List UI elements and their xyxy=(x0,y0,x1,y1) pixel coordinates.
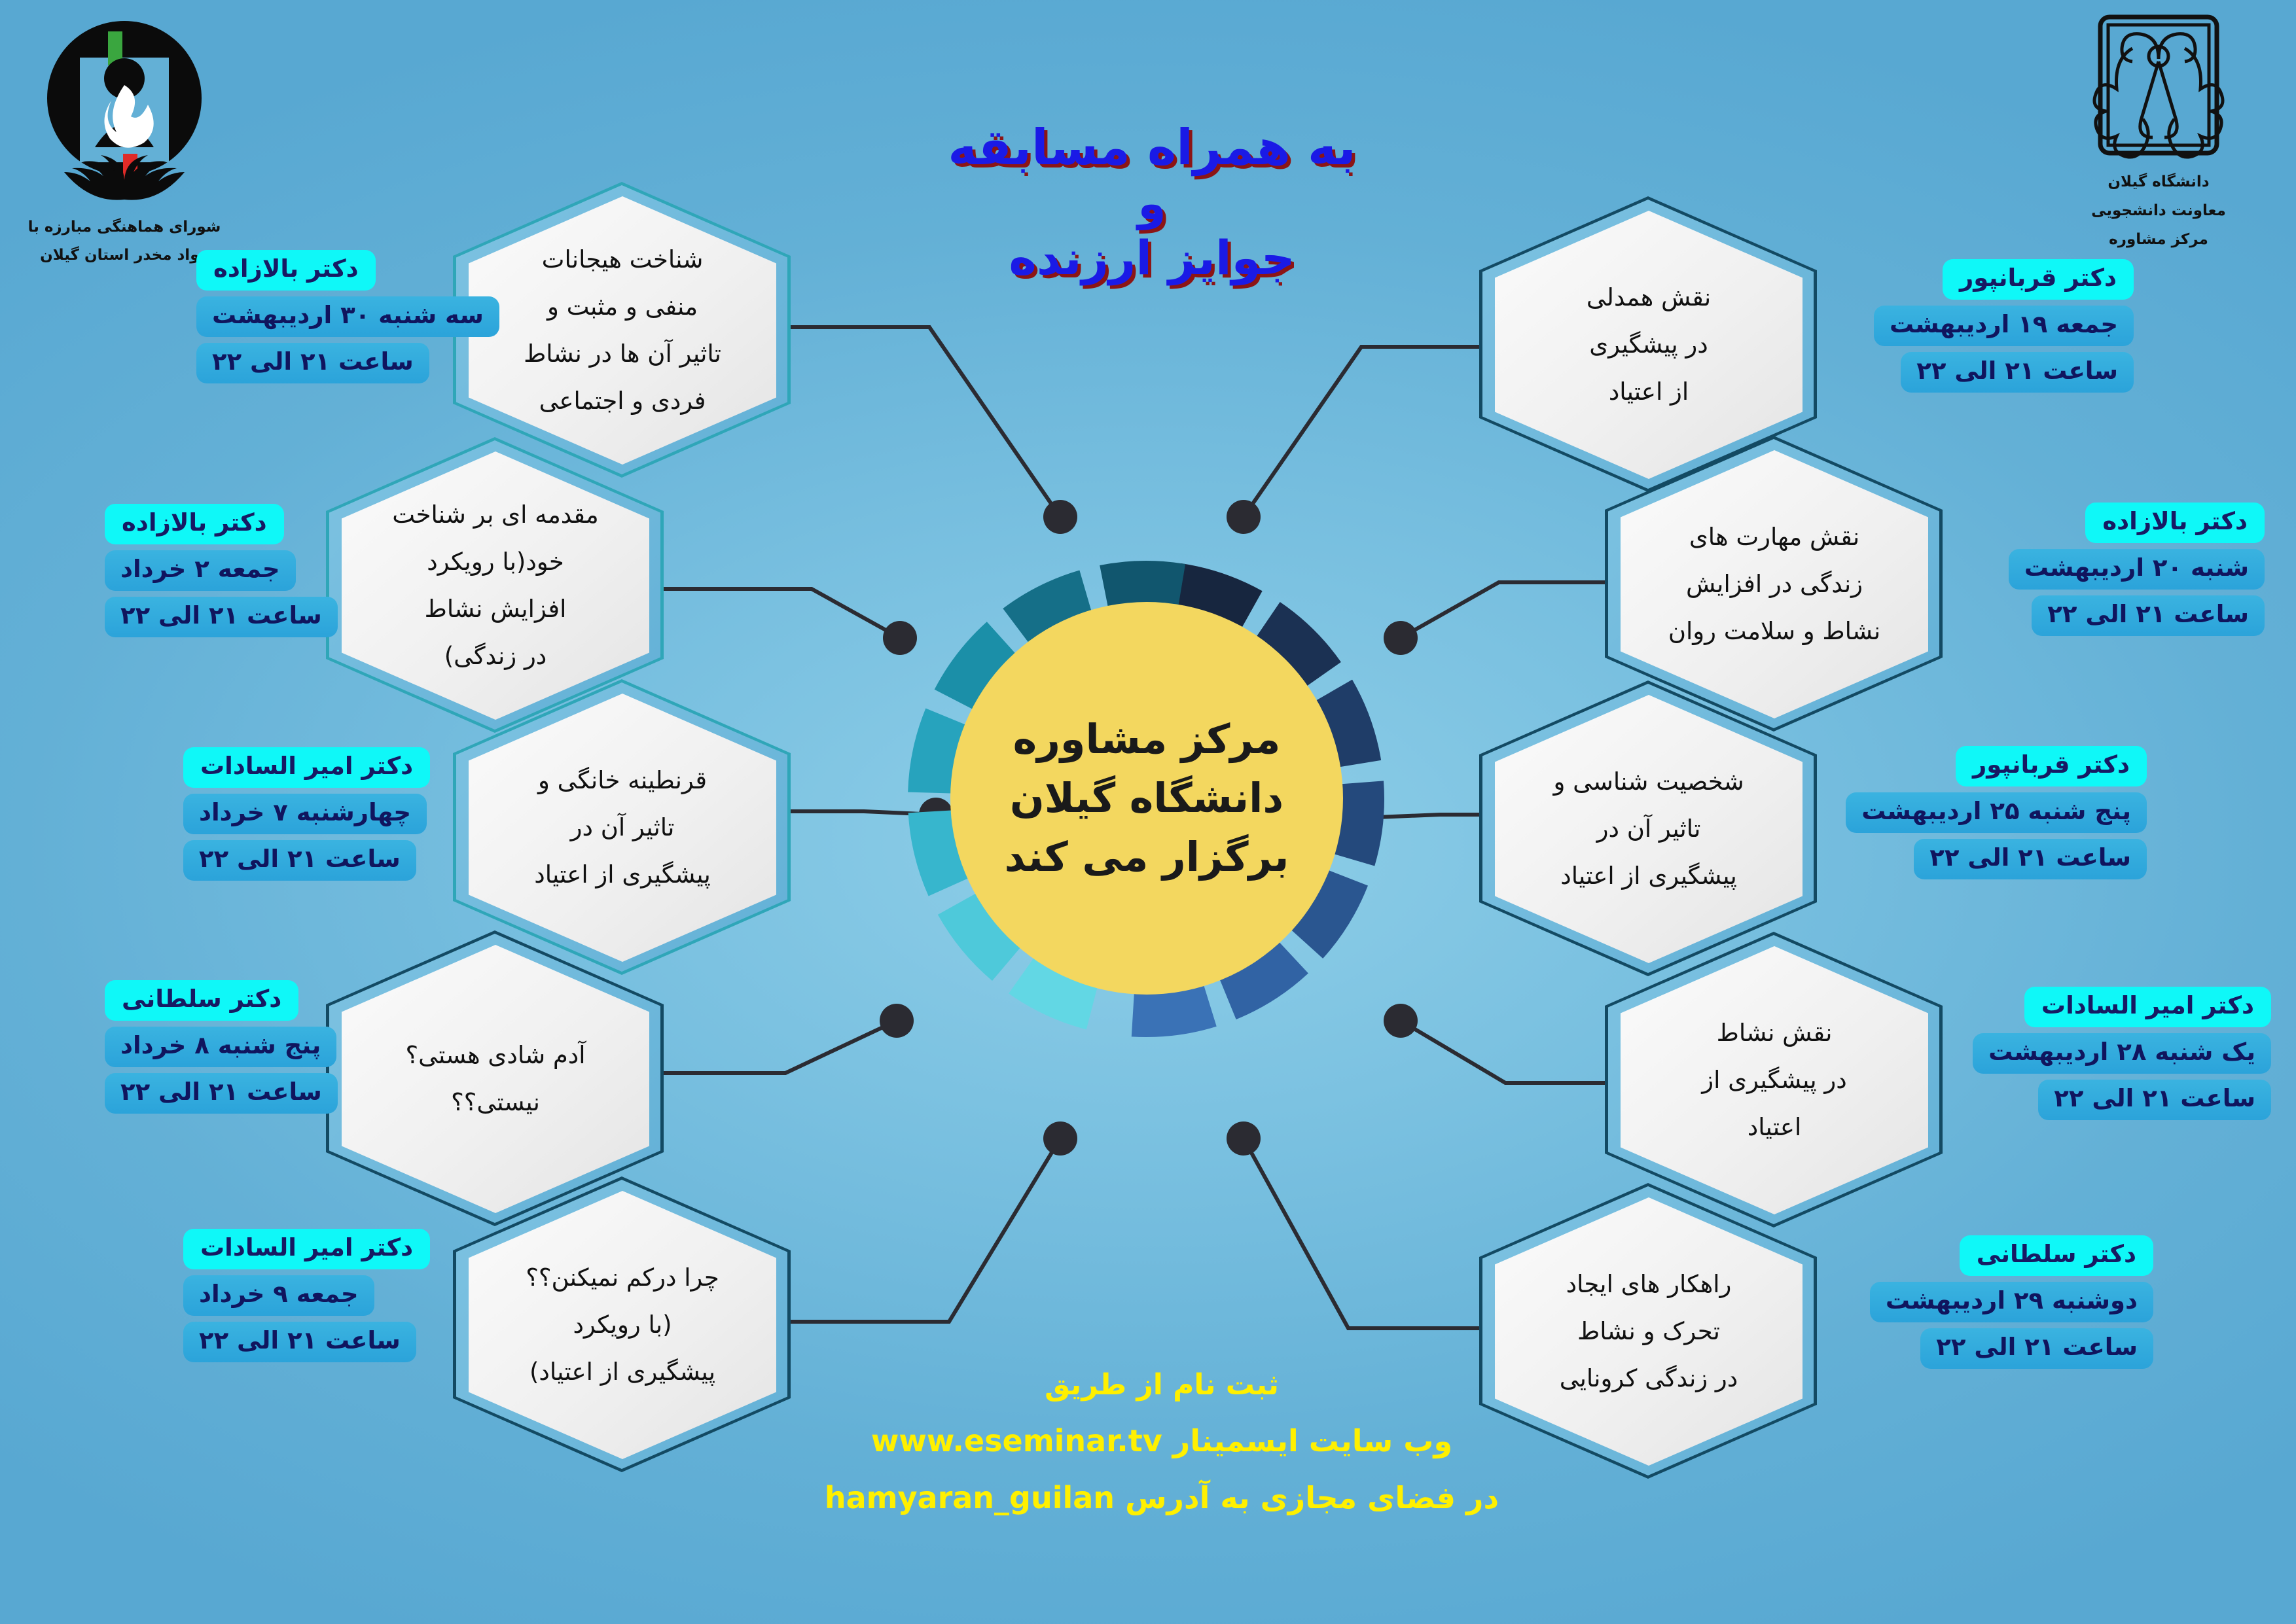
time-badge-left-3[interactable]: ساعت ۲۱ الی ۲۲ xyxy=(105,1073,338,1114)
presenter-badge-right-2[interactable]: دکتر قربانپور xyxy=(1956,746,2147,786)
right-logo-caption-line1: دانشگاه گیلان xyxy=(2060,170,2257,195)
hex-right-2-l0: شخصیت شناسی و xyxy=(1553,758,1744,805)
anti-narcotics-council-logo-icon xyxy=(26,7,223,209)
date-badge-left-4[interactable]: جمعه ۹ خرداد xyxy=(183,1275,374,1316)
headline: به همراه مسابقه و جوایز ارزنده xyxy=(936,121,1368,283)
badge-group-right-1: دکتر بالازاده شنبه ۲۰ اردیبهشت ساعت ۲۱ ا… xyxy=(1950,503,2265,636)
footer-line3[interactable]: در فضای مجازی به آدرس hamyaran_guilan xyxy=(740,1470,1584,1527)
right-logo-caption-line2: معاونت دانشجویی xyxy=(2060,199,2257,224)
hex-right-3-l2: اعتیاد xyxy=(1748,1104,1801,1151)
time-badge-left-0[interactable]: ساعت ۲۱ الی ۲۲ xyxy=(196,343,429,383)
badge-group-left-1: دکتر بالازاده جمعه ۲ خرداد ساعت ۲۱ الی ۲… xyxy=(105,504,380,637)
center-line1: مرکز مشاوره xyxy=(1013,710,1281,769)
date-badge-left-0[interactable]: سه شنبه ۳۰ اردیبهشت xyxy=(196,296,499,337)
time-badge-left-1[interactable]: ساعت ۲۱ الی ۲۲ xyxy=(105,597,338,637)
anti-narcotics-council-logo-block: شورای هماهنگی مبارزه با مواد مخدر استان … xyxy=(13,7,236,268)
date-badge-right-2[interactable]: پنج شنبه ۲۵ اردیبهشت xyxy=(1846,792,2147,833)
center-line3: برگزار می کند xyxy=(1005,828,1289,887)
hex-right-1-l2: نشاط و سلامت روان xyxy=(1668,608,1880,655)
hex-left-2-l1: تاثیر آن در xyxy=(571,804,675,851)
presenter-badge-right-0[interactable]: دکتر قربانپور xyxy=(1943,259,2134,300)
date-badge-left-2[interactable]: چهارشنبه ۷ خرداد xyxy=(183,794,427,834)
hex-right-0-l1: در پیشگیری xyxy=(1589,321,1708,368)
hex-left-2-l2: پیشگیری از اعتیاد xyxy=(534,851,711,898)
hex-right-4-l1: تحرک و نشاط xyxy=(1577,1308,1720,1355)
badge-group-left-3: دکتر سلطانی پنج شنبه ۸ خرداد ساعت ۲۱ الی… xyxy=(105,980,393,1114)
presenter-badge-right-3[interactable]: دکتر امیر السادات xyxy=(2024,987,2271,1027)
hex-left-1-l1: خود(با رویکرد xyxy=(427,538,564,586)
presenter-badge-left-0[interactable]: دکتر بالازاده xyxy=(196,250,376,291)
hex-left-0-l0: شناخت هیجانات xyxy=(542,236,704,283)
university-of-guilan-logo-block: دانشگاه گیلان معاونت دانشجویی مرکز مشاور… xyxy=(2060,12,2257,253)
time-badge-right-3[interactable]: ساعت ۲۱ الی ۲۲ xyxy=(2038,1080,2271,1120)
hex-right-0-l0: نقش همدلی xyxy=(1587,274,1711,321)
badge-group-right-2: دکتر قربانپور پنج شنبه ۲۵ اردیبهشت ساعت … xyxy=(1826,746,2147,879)
time-badge-left-4[interactable]: ساعت ۲۱ الی ۲۲ xyxy=(183,1322,416,1362)
hex-left-3-l0: آدم شادی هستی؟ xyxy=(405,1032,585,1079)
left-logo-caption-line1: شورای هماهنگی مبارزه با xyxy=(13,215,236,240)
hex-left-3-l1: نیستی؟؟ xyxy=(451,1079,540,1126)
footer-line2[interactable]: وب سایت ایسمینار www.eseminar.tv xyxy=(740,1413,1584,1470)
center-line2: دانشگاه گیلان xyxy=(1010,769,1283,828)
hex-left-0-l3: فردی و اجتماعی xyxy=(539,378,706,425)
hex-left-2-l0: قرنطینه خانگی و xyxy=(538,757,707,804)
date-badge-right-0[interactable]: جمعه ۱۹ اردیبهشت xyxy=(1874,306,2134,346)
hex-right-4-l0: راهکار های ایجاد xyxy=(1566,1261,1732,1308)
hex-left-4-l0: چرا درکم نمیکنن؟؟ xyxy=(526,1254,719,1301)
hex-right-2-l2: پیشگیری از اعتیاد xyxy=(1560,853,1737,900)
presenter-badge-left-3[interactable]: دکتر سلطانی xyxy=(105,980,298,1021)
badge-group-left-4: دکتر امیر السادات جمعه ۹ خرداد ساعت ۲۱ ا… xyxy=(183,1229,478,1362)
date-badge-right-4[interactable]: دوشنبه ۲۹ اردیبهشت xyxy=(1870,1282,2153,1322)
hex-left-1-l0: مقدمه ای بر شناخت xyxy=(392,491,599,538)
time-badge-right-0[interactable]: ساعت ۲۱ الی ۲۲ xyxy=(1901,352,2134,393)
hex-right-4-l2: در زندگی کرونایی xyxy=(1560,1355,1738,1402)
presenter-badge-left-2[interactable]: دکتر امیر السادات xyxy=(183,747,430,788)
hex-right-1-l0: نقش مهارت های xyxy=(1689,514,1859,561)
date-badge-left-3[interactable]: پنج شنبه ۸ خرداد xyxy=(105,1027,336,1067)
footer-line1: ثبت نام از طریق xyxy=(740,1358,1584,1413)
badge-group-right-0: دکتر قربانپور جمعه ۱۹ اردیبهشت ساعت ۲۱ ا… xyxy=(1826,259,2134,393)
presenter-badge-left-1[interactable]: دکتر بالازاده xyxy=(105,504,284,544)
badge-group-left-2: دکتر امیر السادات چهارشنبه ۷ خرداد ساعت … xyxy=(183,747,471,881)
badge-group-right-4: دکتر سلطانی دوشنبه ۲۹ اردیبهشت ساعت ۲۱ ا… xyxy=(1826,1235,2153,1369)
date-badge-right-3[interactable]: یک شنبه ۲۸ اردیبهشت xyxy=(1973,1033,2271,1074)
hex-right-2-l1: تاثیر آن در xyxy=(1597,805,1701,853)
hex-left-1-l3: در زندگی) xyxy=(444,633,547,680)
hex-left-1-l2: افزایش نشاط xyxy=(425,586,567,633)
time-badge-right-4[interactable]: ساعت ۲۱ الی ۲۲ xyxy=(1920,1328,2153,1369)
hex-left-0-l1: منفی و مثبت و xyxy=(547,283,698,330)
badge-group-right-3: دکتر امیر السادات یک شنبه ۲۸ اردیبهشت سا… xyxy=(1944,987,2271,1120)
presenter-badge-right-4[interactable]: دکتر سلطانی xyxy=(1960,1235,2153,1276)
footer: ثبت نام از طریق وب سایت ایسمینار www.ese… xyxy=(740,1358,1584,1527)
time-badge-right-1[interactable]: ساعت ۲۱ الی ۲۲ xyxy=(2032,595,2265,636)
presenter-badge-right-1[interactable]: دکتر بالازاده xyxy=(2085,503,2265,543)
headline-line2: و xyxy=(936,179,1368,229)
right-logo-caption-line3: مرکز مشاوره xyxy=(2060,228,2257,253)
center-circle: مرکز مشاوره دانشگاه گیلان برگزار می کند xyxy=(950,602,1343,995)
hex-left-4-l2: پیشگیری از اعتیاد) xyxy=(529,1349,715,1396)
hex-right-1-l1: زندگی در افزایش xyxy=(1686,561,1863,608)
time-badge-left-2[interactable]: ساعت ۲۱ الی ۲۲ xyxy=(183,840,416,881)
hex-right-0-l2: از اعتیاد xyxy=(1609,368,1689,415)
hex-left-0-l2: تاثیر آن ها در نشاط xyxy=(524,330,721,378)
date-badge-left-1[interactable]: جمعه ۲ خرداد xyxy=(105,550,296,591)
hex-right-3-l1: در پیشگیری از xyxy=(1702,1057,1846,1104)
presenter-badge-left-4[interactable]: دکتر امیر السادات xyxy=(183,1229,430,1269)
hex-right-3-l0: نقش نشاط xyxy=(1717,1010,1833,1057)
date-badge-right-1[interactable]: شنبه ۲۰ اردیبهشت xyxy=(2009,549,2265,590)
headline-line3: جوایز ارزنده xyxy=(936,233,1368,284)
hex-left-4-l1: (با رویکرد xyxy=(573,1301,672,1349)
badge-group-left-0: دکتر بالازاده سه شنبه ۳۰ اردیبهشت ساعت ۲… xyxy=(196,250,471,383)
university-of-guilan-logo-icon xyxy=(2090,12,2227,164)
time-badge-right-2[interactable]: ساعت ۲۱ الی ۲۲ xyxy=(1914,839,2147,879)
headline-line1: به همراه مسابقه xyxy=(936,121,1368,174)
